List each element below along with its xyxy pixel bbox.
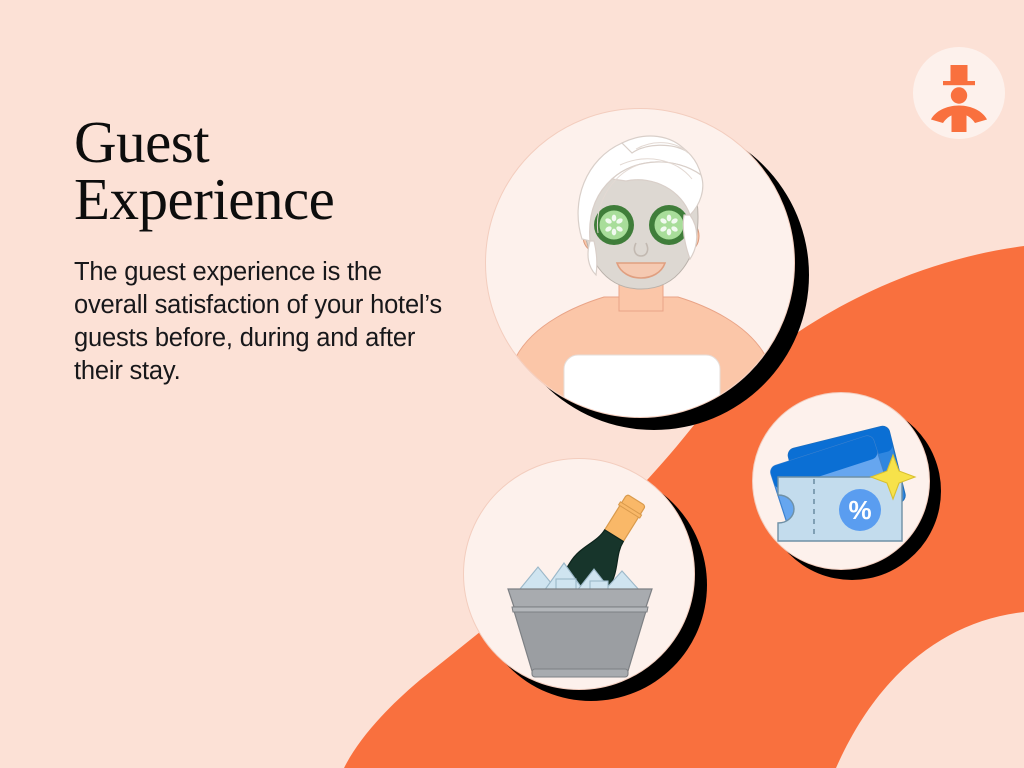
top-hat-crown-icon [951, 65, 968, 82]
coupon-bubble-disc: % [752, 392, 930, 570]
bucket-body [514, 611, 646, 671]
champagne-bubble-disc [463, 458, 695, 690]
body-icon [952, 109, 967, 132]
head-icon [951, 87, 967, 103]
spa-bubble-disc [485, 108, 795, 418]
bucket-rim [508, 589, 652, 607]
coupon-scene: % [753, 393, 930, 570]
percent-symbol: % [848, 495, 871, 525]
bucket-base [532, 669, 628, 677]
top-hat-brim-icon [943, 81, 975, 85]
spa-scene [486, 109, 795, 418]
page-title: GuestExperience [74, 114, 444, 228]
top-hat-person-logo[interactable] [913, 47, 1005, 139]
body-paragraph: The guest experience is the overall sati… [74, 228, 444, 388]
text-block: GuestExperience The guest experience is … [74, 114, 444, 388]
title-line-2: Experience [74, 171, 444, 228]
discount-ticket: % [778, 477, 902, 541]
champagne-scene [464, 459, 695, 690]
title-line-1: Guest [74, 109, 209, 175]
champagne-bucket-illustration[interactable] [463, 458, 695, 690]
bucket-band [512, 607, 648, 612]
discount-coupon-illustration[interactable]: % [752, 392, 930, 570]
spa-face-mask-illustration[interactable] [485, 108, 795, 418]
cucumber-left-icon [594, 205, 634, 245]
body-towel-wrap [564, 355, 720, 418]
ice-bucket-icon [508, 589, 652, 677]
slide-canvas: GuestExperience The guest experience is … [0, 0, 1024, 768]
